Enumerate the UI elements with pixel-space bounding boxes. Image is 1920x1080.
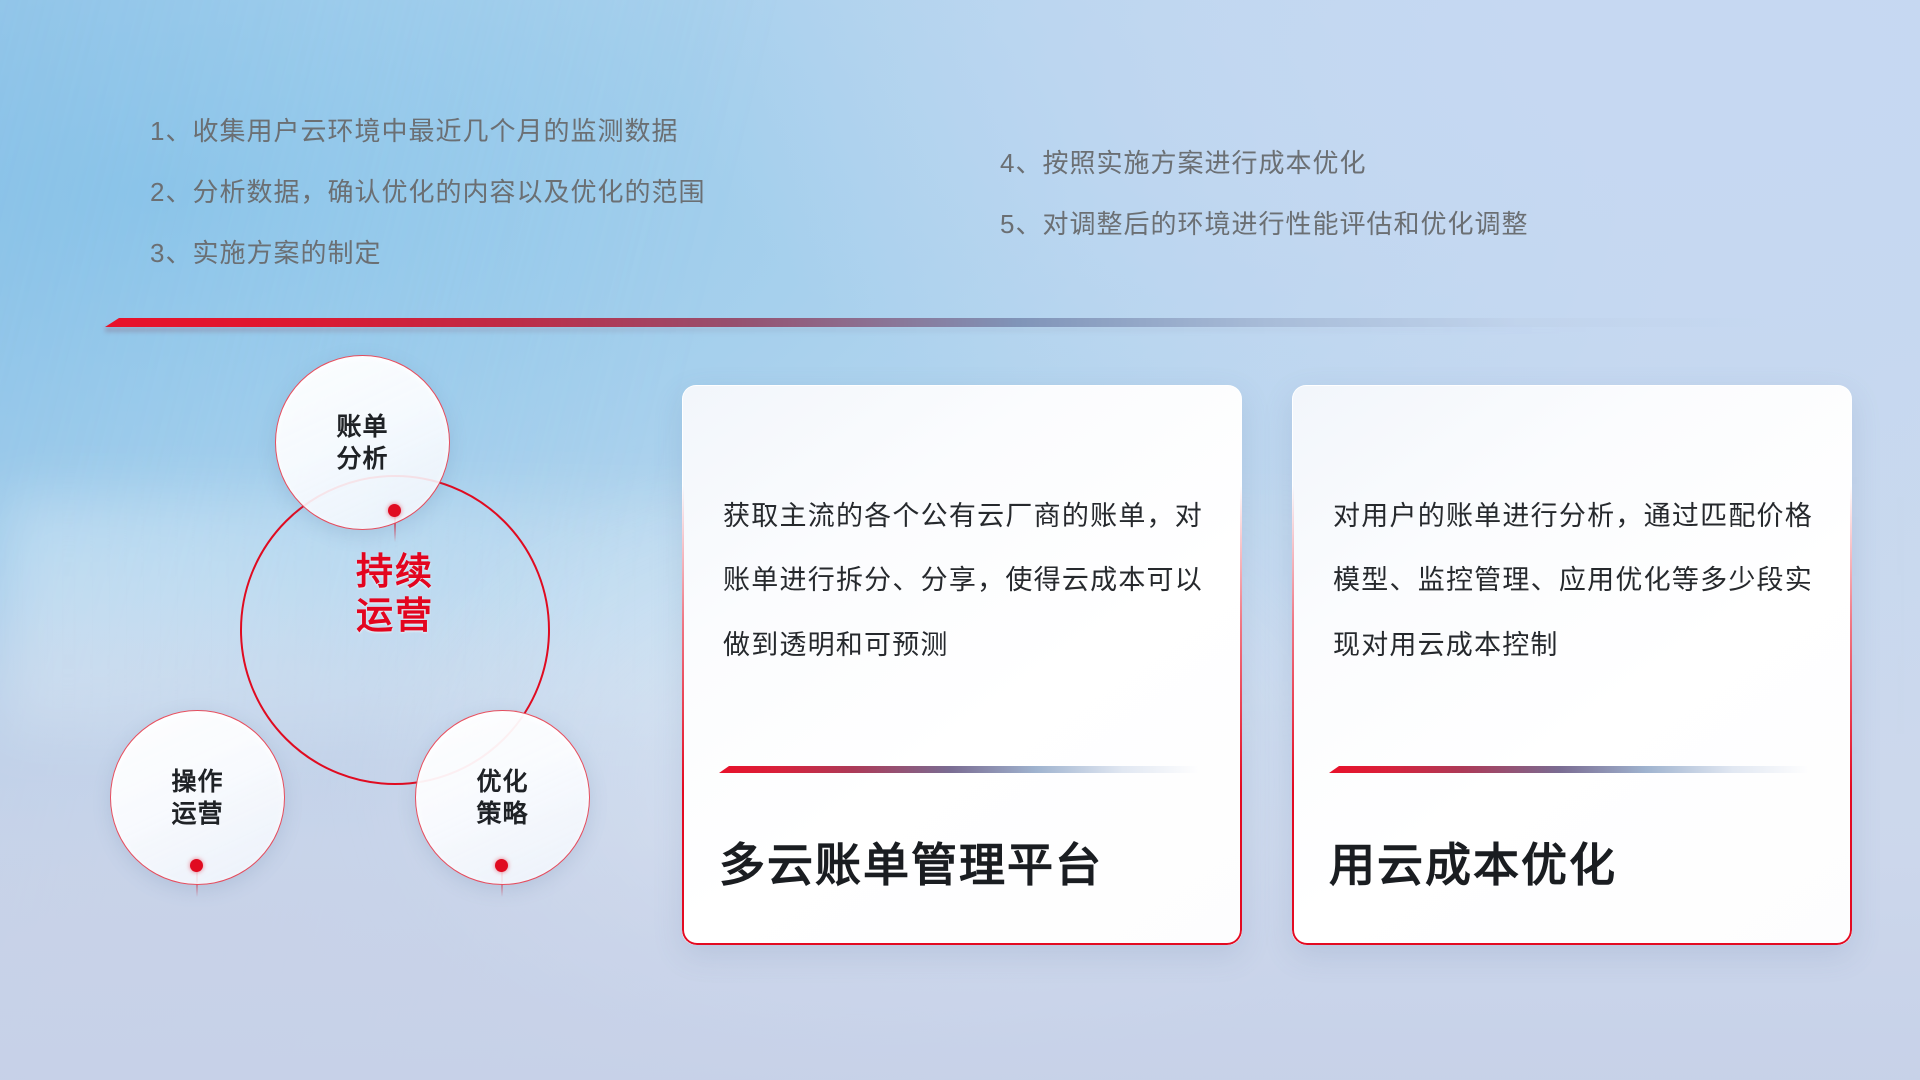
section-divider-bar bbox=[105, 318, 1765, 327]
node-label-line2: 分析 bbox=[336, 443, 388, 475]
node-label-line2: 运营 bbox=[171, 798, 223, 830]
diagram-node-bill-analysis[interactable]: 账单 分析 bbox=[275, 355, 450, 530]
center-label-line2: 运营 bbox=[300, 594, 490, 638]
card-title: 多云账单管理平台 bbox=[719, 829, 1211, 895]
node-label-line1: 操作 bbox=[171, 766, 223, 798]
center-label-line1: 持续 bbox=[300, 550, 490, 594]
feature-card-cloud-cost-optimization[interactable]: 对用户的账单进行分析，通过匹配价格模型、监控管理、应用优化等多少段实现对用云成本… bbox=[1292, 385, 1852, 945]
steps-right-column: 4、按照实施方案进行成本优化 5、对调整后的环境进行性能评估和优化调整 bbox=[1000, 150, 1528, 272]
step-item-3: 3、实施方案的制定 bbox=[150, 240, 705, 266]
node-dot-right bbox=[495, 859, 508, 872]
node-dot-top bbox=[388, 504, 401, 517]
card-title: 用云成本优化 bbox=[1329, 829, 1821, 895]
diagram-center-label: 持续 运营 bbox=[300, 550, 490, 637]
card-divider-rule bbox=[1329, 766, 1809, 773]
step-item-4: 4、按照实施方案进行成本优化 bbox=[1000, 150, 1528, 176]
node-dot-left bbox=[190, 859, 203, 872]
cycle-diagram: 账单 分析 操作 运营 优化 策略 持续 运营 bbox=[110, 355, 640, 955]
slide-content: 1、收集用户云环境中最近几个月的监测数据 2、分析数据，确认优化的内容以及优化的… bbox=[0, 0, 1920, 1080]
feature-card-multi-cloud-billing[interactable]: 获取主流的各个公有云厂商的账单，对账单进行拆分、分享，使得云成本可以做到透明和可… bbox=[682, 385, 1242, 945]
node-label-line1: 账单 bbox=[336, 411, 388, 443]
step-item-2: 2、分析数据，确认优化的内容以及优化的范围 bbox=[150, 179, 705, 205]
divider-shadow bbox=[105, 327, 1765, 332]
step-item-5: 5、对调整后的环境进行性能评估和优化调整 bbox=[1000, 211, 1528, 237]
steps-left-column: 1、收集用户云环境中最近几个月的监测数据 2、分析数据，确认优化的内容以及优化的… bbox=[150, 118, 705, 301]
card-divider-rule bbox=[719, 766, 1199, 773]
node-label-line1: 优化 bbox=[476, 766, 528, 798]
node-label-line2: 策略 bbox=[476, 798, 528, 830]
card-description: 获取主流的各个公有云厂商的账单，对账单进行拆分、分享，使得云成本可以做到透明和可… bbox=[723, 484, 1203, 677]
card-description: 对用户的账单进行分析，通过匹配价格模型、监控管理、应用优化等多少段实现对用云成本… bbox=[1333, 484, 1813, 677]
step-item-1: 1、收集用户云环境中最近几个月的监测数据 bbox=[150, 118, 705, 144]
